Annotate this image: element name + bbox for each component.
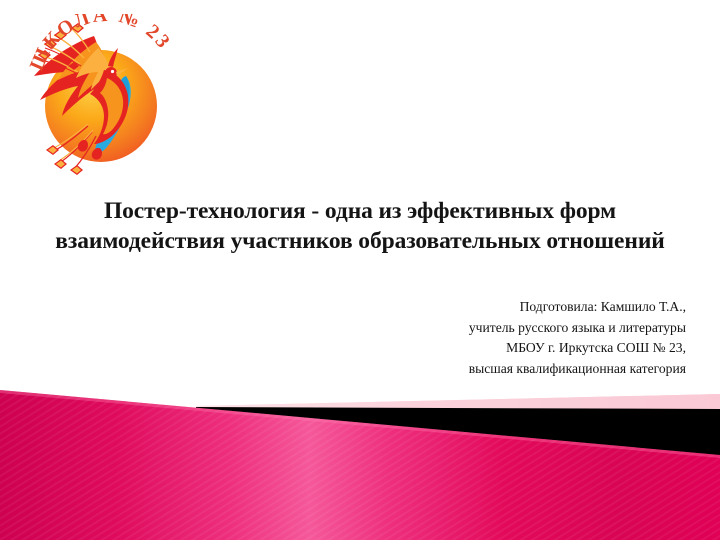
subtitle-line-position: учитель русского языка и литературы [360,318,686,339]
page-title: Постер-технология - одна из эффективных … [54,196,666,256]
subtitle-line-author: Подготовила: Камшило Т.А., [360,297,686,318]
title-container: Постер-технология - одна из эффективных … [54,196,666,256]
subtitle-container: Подготовила: Камшило Т.А., учитель русск… [360,297,688,379]
subtitle-line-school: МБОУ г. Иркутска СОШ № 23, [360,338,686,359]
school-emblem-graphic: ШКОЛА № 23 [8,14,190,180]
banner-graphic [0,376,720,540]
decorative-banner [0,376,720,540]
presentation-slide: ШКОЛА № 23 Постер-технология - одна из э… [0,0,720,540]
school-logo: ШКОЛА № 23 [8,14,190,180]
